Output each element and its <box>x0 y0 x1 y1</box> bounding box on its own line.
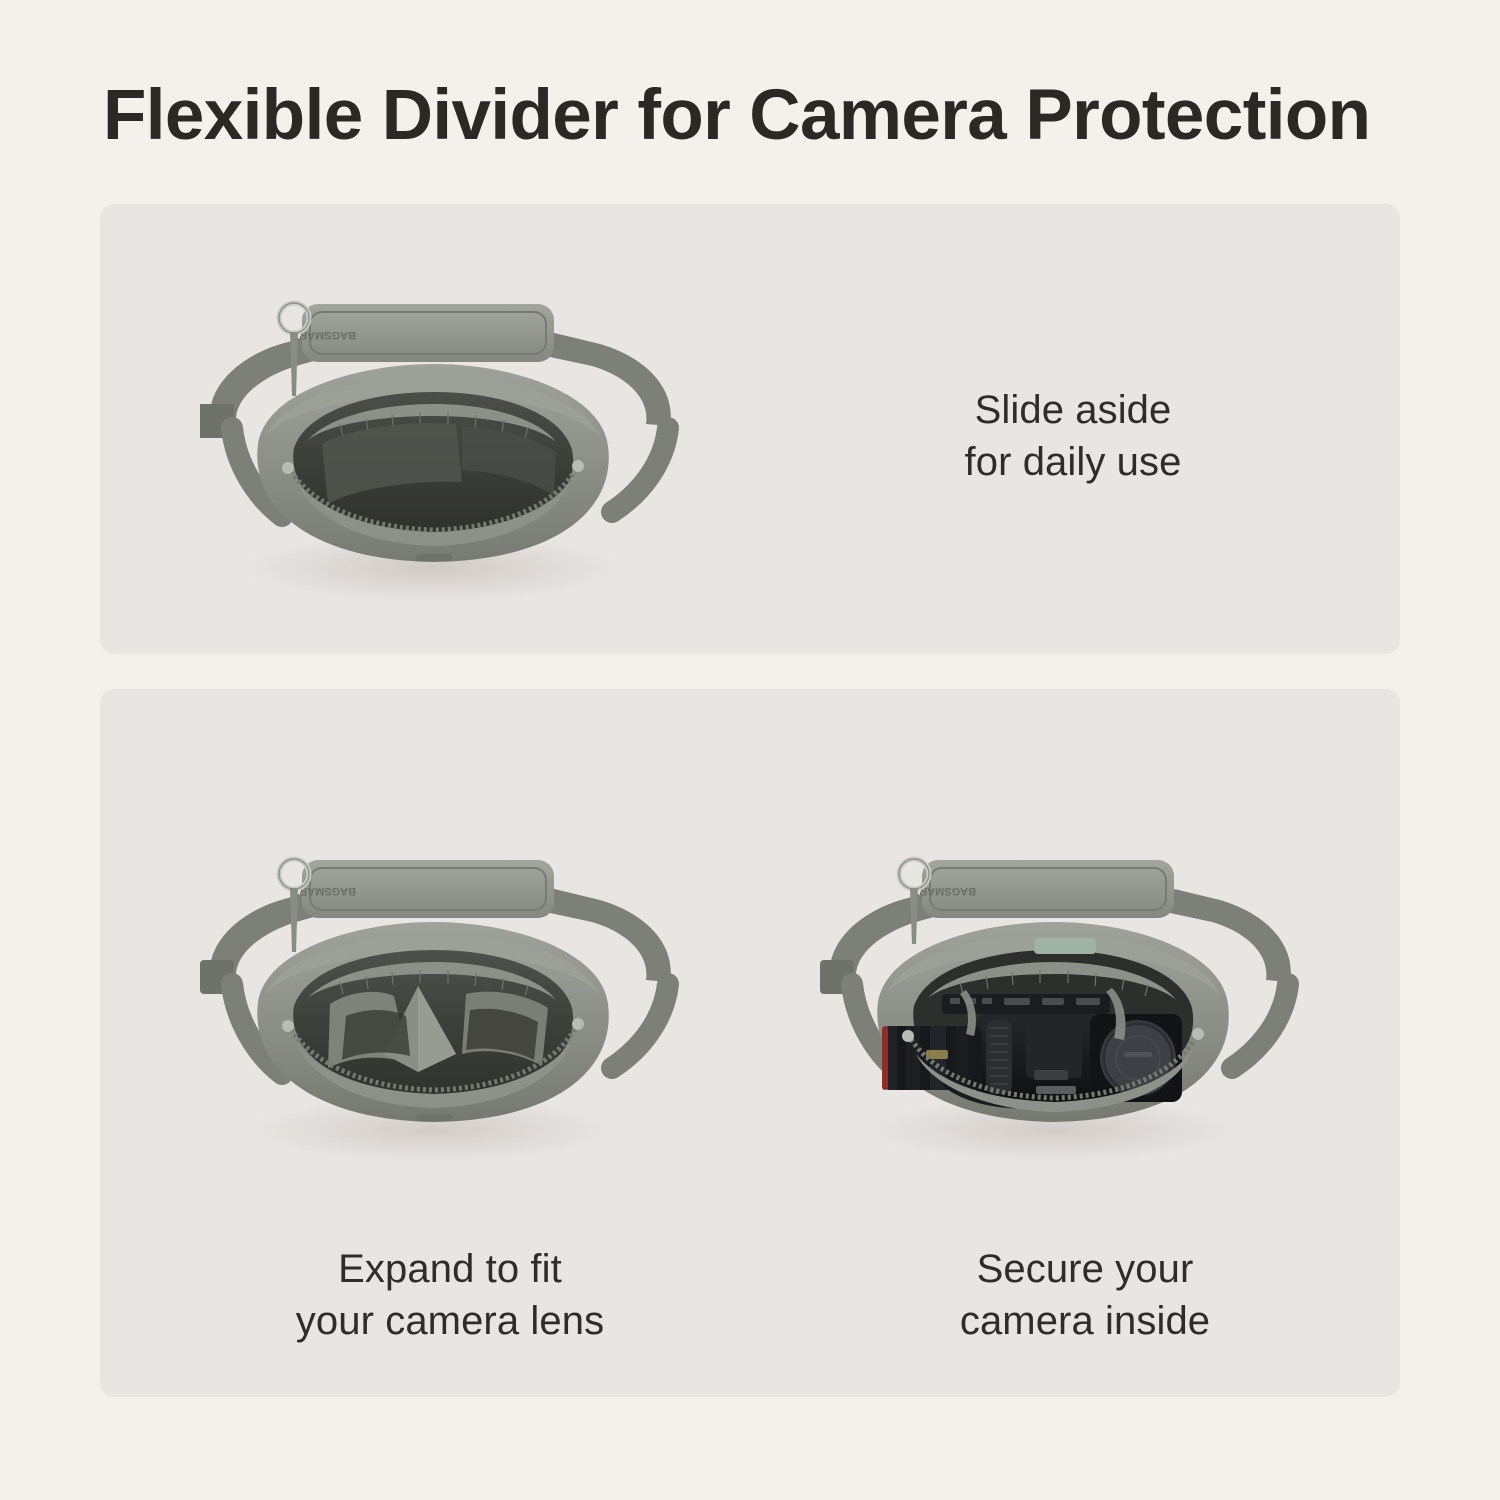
caption-line-1: Secure your <box>885 1243 1285 1295</box>
caption-expand-to-fit: Expand to fit your camera lens <box>240 1243 660 1347</box>
lens-red-ring <box>882 1026 888 1090</box>
lens-cap-text <box>1124 1052 1152 1057</box>
caption-line-2: camera inside <box>885 1295 1285 1347</box>
zipper-pull-tab <box>290 332 298 396</box>
zipper-slider-left <box>902 1030 914 1042</box>
zipper-pull-tab <box>910 888 918 944</box>
sling-bag-divider-expanded-image: BAGSMART <box>170 818 710 1168</box>
bottom-panel: BAGSMART <box>100 689 1400 1397</box>
caption-line-1: Expand to fit <box>240 1243 660 1295</box>
strap-right-lower <box>612 428 668 512</box>
page-title: Flexible Divider for Camera Protection <box>103 80 1423 151</box>
base-label-tab <box>416 1114 452 1121</box>
infographic-page: Flexible Divider for Camera Protection <box>0 0 1500 1500</box>
shoulder-pad: BAGSMART <box>912 860 1174 918</box>
top-panel: BAGSMART <box>100 204 1400 654</box>
zipper-slider-right <box>572 460 584 472</box>
zipper-slider-left <box>282 462 294 474</box>
sling-bag-with-camera-image: BAGSMART <box>790 818 1330 1168</box>
zipper-pull-tab <box>290 888 298 952</box>
zipper-slider-right <box>1192 1028 1204 1040</box>
caption-line-2: for daily use <box>873 436 1273 488</box>
shoulder-pad: BAGSMART <box>292 304 554 362</box>
accessory-pouch <box>1034 938 1096 954</box>
sling-bag-divider-folded-image: BAGSMART <box>170 268 710 608</box>
zipper-slider-right <box>572 1018 584 1030</box>
caption-line-2: your camera lens <box>240 1295 660 1347</box>
shoulder-pad: BAGSMART <box>292 860 554 918</box>
strap-right-lower <box>1232 984 1288 1068</box>
base-label-tab <box>416 554 452 561</box>
caption-secure-camera: Secure your camera inside <box>885 1243 1285 1347</box>
caption-slide-aside: Slide aside for daily use <box>873 384 1273 488</box>
compartment-left-void <box>342 1010 410 1060</box>
caption-line-1: Slide aside <box>873 384 1273 436</box>
strap-right-lower <box>612 984 668 1068</box>
zipper-slider-left <box>282 1020 294 1032</box>
